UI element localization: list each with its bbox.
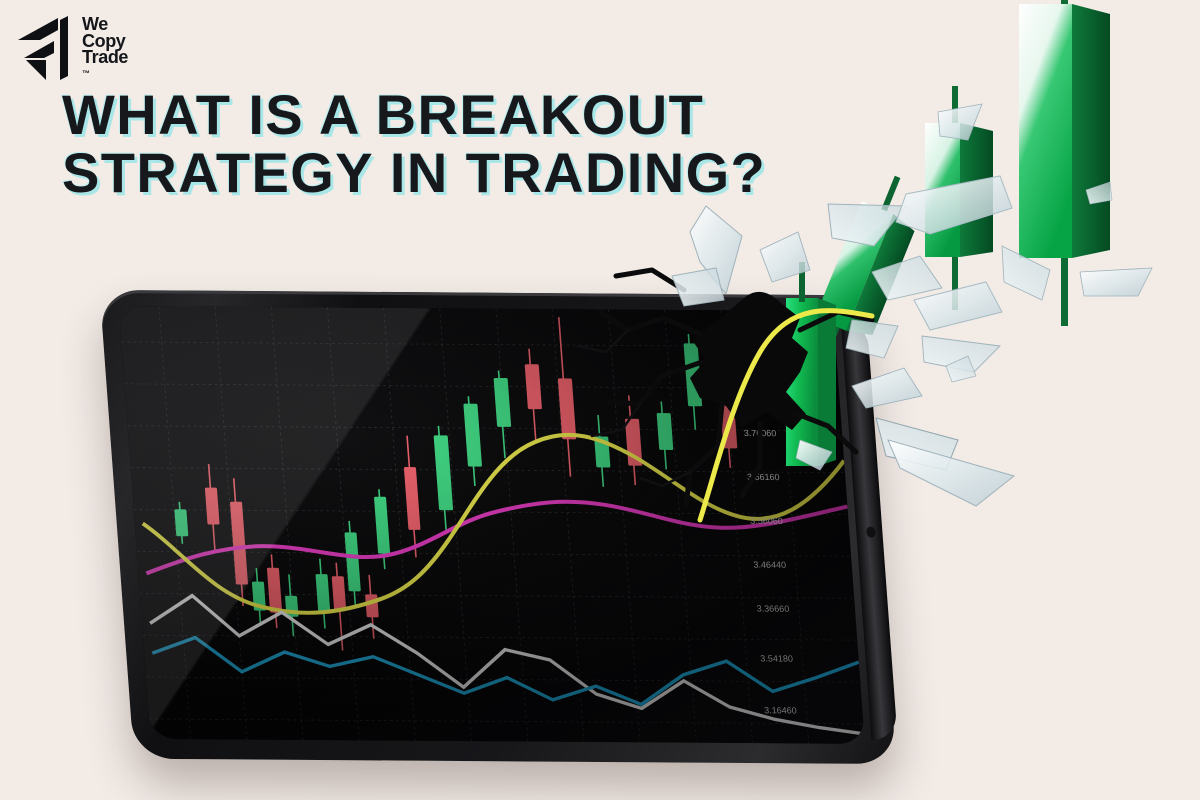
price-label: 3.46440 <box>753 560 786 570</box>
poster-canvas: We Copy Trade™ WHAT IS A BREAKOUT STRATE… <box>0 0 1200 800</box>
glass-shard <box>760 232 810 282</box>
glass-shard <box>1002 246 1050 300</box>
page-title: WHAT IS A BREAKOUT STRATEGY IN TRADING? <box>62 86 766 202</box>
trading-chart: 3.76060 3.66160 3.56060 3.46440 3.36660 … <box>119 306 865 744</box>
glass-shard <box>1080 268 1152 296</box>
floating-candle-large <box>1019 0 1110 326</box>
price-label: 3.56060 <box>750 516 783 526</box>
glass-shard <box>888 440 1014 506</box>
wecopytrade-arrow-logo-icon <box>14 14 72 84</box>
page-title-line-2: STRATEGY IN TRADING? <box>62 144 766 202</box>
page-title-line-1: WHAT IS A BREAKOUT <box>62 86 766 144</box>
brand-line-3: Trade™ <box>82 49 128 82</box>
floating-candle-medium <box>925 86 993 310</box>
glass-shard <box>828 204 906 246</box>
smartphone-mockup: 3.76060 3.66160 3.56060 3.46440 3.36660 … <box>100 290 897 764</box>
power-button-icon[interactable] <box>866 527 876 538</box>
glass-shard <box>876 418 958 470</box>
glass-shard <box>1086 182 1112 204</box>
phone-screen[interactable]: 3.76060 3.66160 3.56060 3.46440 3.36660 … <box>119 306 865 744</box>
price-label: 3.16460 <box>764 705 797 715</box>
glass-shard <box>896 176 1012 234</box>
trademark-symbol: ™ <box>82 66 128 83</box>
glass-shard <box>914 282 1002 330</box>
price-label: 3.54180 <box>760 653 793 663</box>
brand-wordmark: We Copy Trade™ <box>82 16 128 82</box>
brand-logo[interactable]: We Copy Trade™ <box>14 14 128 84</box>
price-label: 3.66160 <box>747 472 780 482</box>
glass-shard <box>872 256 942 300</box>
glass-shard <box>690 206 742 294</box>
price-label: 3.76060 <box>743 428 776 438</box>
glass-shard <box>938 104 982 140</box>
glass-shard <box>946 356 976 382</box>
glass-shard <box>922 336 1000 372</box>
price-label: 3.36660 <box>756 604 789 614</box>
